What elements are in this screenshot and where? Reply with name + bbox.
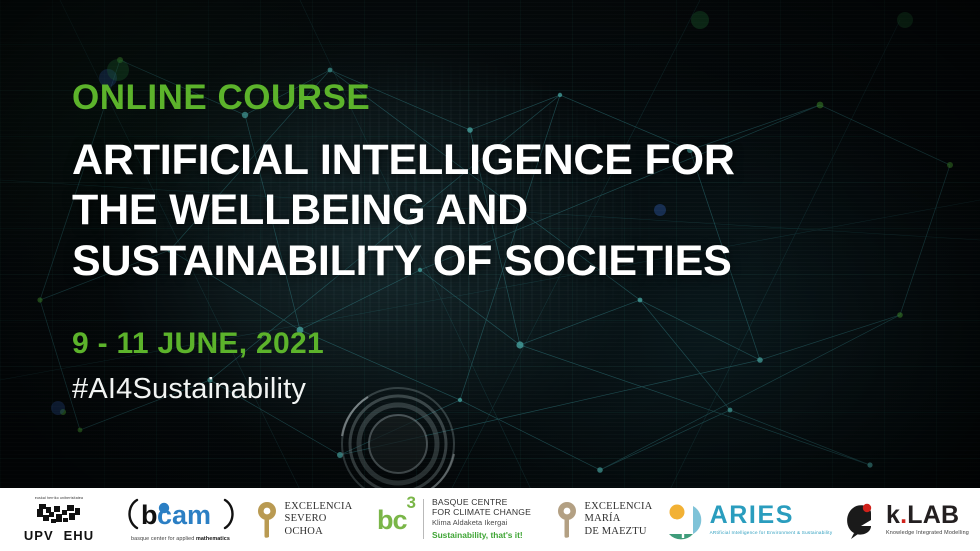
bc3-wordmark: bc3: [377, 505, 415, 534]
severo-ochoa-line-1: EXCELENCIA: [285, 501, 353, 513]
maria-de-maeztu-line-2: MARÍA: [585, 513, 653, 525]
bcam-tagline-plain: basque center for applied: [131, 536, 196, 542]
logo-bc3: bc3 BASQUE CENTRE FOR CLIMATE CHANGE Kli…: [365, 488, 543, 551]
page-title-line-2: THE WELLBEING AND: [72, 185, 772, 236]
bc3-line-3-basque: Klima Aldaketa Ikergai: [432, 519, 531, 528]
maria-de-maeztu-line-1: EXCELENCIA: [585, 501, 653, 513]
logo-maria-de-maeztu: EXCELENCIA MARÍA DE MAEZTU: [543, 488, 665, 551]
upv-ehu-micro-text: euskal herriko unibertsitatea: [19, 497, 99, 500]
bc3-divider: [423, 499, 424, 539]
maria-de-maeztu-text: EXCELENCIA MARÍA DE MAEZTU: [585, 501, 653, 538]
svg-text:b: b: [141, 500, 158, 530]
bcam-wordmark-icon: b cam: [123, 497, 239, 531]
aries-emblem-icon: [663, 500, 703, 540]
upv-label: UPV: [24, 528, 54, 543]
klab-wordmark-lab: LAB: [907, 501, 959, 529]
bc3-wordmark-text: bc: [377, 505, 407, 535]
logo-upv-ehu: euskal herriko unibertsitatea: [0, 488, 118, 551]
severo-ochoa-line-2: SEVERO: [285, 513, 353, 525]
logo-severo-ochoa: EXCELENCIA SEVERO OCHOA: [243, 488, 365, 551]
bc3-text-block: BASQUE CENTRE FOR CLIMATE CHANGE Klima A…: [432, 498, 531, 540]
klab-wordmark: k.LAB: [886, 503, 969, 528]
upv-ehu-emblem-icon: [35, 502, 83, 526]
page-title: ARTIFICIAL INTELLIGENCE FOR THE WELLBEIN…: [72, 135, 772, 287]
klab-wordmark-k: k: [886, 501, 900, 529]
page-title-line-1: ARTIFICIAL INTELLIGENCE FOR: [72, 135, 772, 186]
ehu-label: EHU: [64, 528, 94, 543]
bc3-slogan: Sustainability, that's it!: [432, 531, 531, 541]
poster-content: ONLINE COURSE ARTIFICIAL INTELLIGENCE FO…: [72, 0, 772, 406]
severo-ochoa-key-icon: [256, 500, 278, 540]
bcam-tagline: basque center for applied mathematics: [123, 537, 239, 542]
severo-ochoa-line-3: OCHOA: [285, 526, 353, 538]
klab-emblem-icon: [841, 500, 879, 540]
course-kicker: ONLINE COURSE: [72, 80, 772, 117]
bc3-wordmark-superscript: 3: [407, 493, 415, 512]
logo-bcam: b cam basque center for applied mathemat…: [118, 488, 243, 551]
aries-tagline: ARtificial Intelligence for Environment …: [710, 531, 833, 536]
klab-text-block: k.LAB Knowledge Integrated Modelling: [886, 503, 969, 536]
course-hashtag: #AI4Sustainability: [72, 373, 772, 406]
logo-aries: ARIES ARtificial Intelligence for Enviro…: [665, 488, 830, 551]
maria-de-maeztu-key-icon: [556, 500, 578, 540]
aries-wordmark: ARIES: [710, 503, 833, 528]
course-promo-poster: ONLINE COURSE ARTIFICIAL INTELLIGENCE FO…: [0, 0, 980, 551]
sponsor-logo-bar: euskal herriko unibertsitatea: [0, 488, 980, 551]
page-title-line-3: SUSTAINABILITY OF SOCIETIES: [72, 236, 772, 287]
klab-tagline: Knowledge Integrated Modelling: [886, 531, 969, 536]
maria-de-maeztu-line-3: DE MAEZTU: [585, 526, 653, 538]
aries-text-block: ARIES ARtificial Intelligence for Enviro…: [710, 503, 833, 536]
bc3-line-2: FOR CLIMATE CHANGE: [432, 508, 531, 518]
bcam-tagline-bold: mathematics: [196, 536, 230, 542]
logo-klab: k.LAB Knowledge Integrated Modelling: [830, 488, 980, 551]
upv-ehu-acronyms: UPVEHU: [19, 529, 99, 542]
severo-ochoa-text: EXCELENCIA SEVERO OCHOA: [285, 501, 353, 538]
course-dates: 9 - 11 JUNE, 2021: [72, 327, 772, 361]
